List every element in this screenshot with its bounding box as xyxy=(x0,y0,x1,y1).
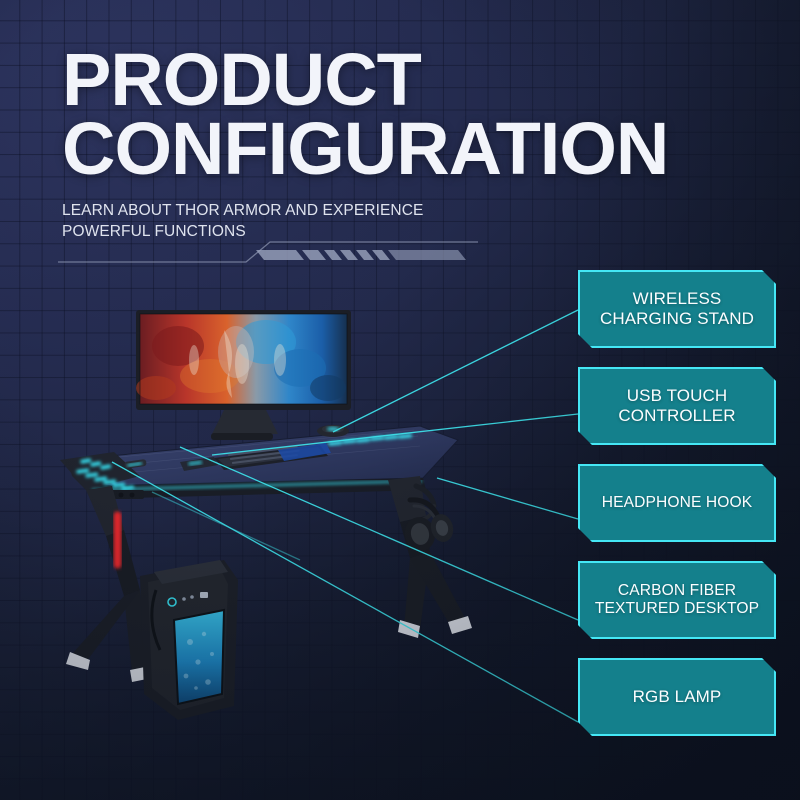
callout-list: WIRELESS CHARGING STAND USB TOUCH CONTRO… xyxy=(578,270,778,755)
page-subtitle: LEARN ABOUT THOR ARMOR AND EXPERIENCE PO… xyxy=(62,201,432,243)
callout-rgb-lamp[interactable]: RGB LAMP xyxy=(578,658,776,736)
header: PRODUCT CONFIGURATION LEARN ABOUT THOR A… xyxy=(62,46,722,242)
callout-label: RGB LAMP xyxy=(625,687,730,707)
callout-label: USB TOUCH CONTROLLER xyxy=(578,386,776,426)
callout-wireless-charging-stand[interactable]: WIRELESS CHARGING STAND xyxy=(578,270,776,348)
page-title-line-2: CONFIGURATION xyxy=(62,115,722,184)
callout-label: HEADPHONE HOOK xyxy=(594,494,760,512)
callout-label: CARBON FIBER TEXTURED DESKTOP xyxy=(578,582,776,619)
decoration-bars xyxy=(256,250,466,260)
callout-usb-touch-controller[interactable]: USB TOUCH CONTROLLER xyxy=(578,367,776,445)
header-decoration xyxy=(58,240,478,266)
callout-label: WIRELESS CHARGING STAND xyxy=(578,289,776,329)
callout-carbon-fiber-textured-desktop[interactable]: CARBON FIBER TEXTURED DESKTOP xyxy=(578,561,776,639)
infographic-canvas: PRODUCT CONFIGURATION LEARN ABOUT THOR A… xyxy=(0,0,800,800)
page-title-line-1: PRODUCT xyxy=(62,46,722,115)
callout-headphone-hook[interactable]: HEADPHONE HOOK xyxy=(578,464,776,542)
